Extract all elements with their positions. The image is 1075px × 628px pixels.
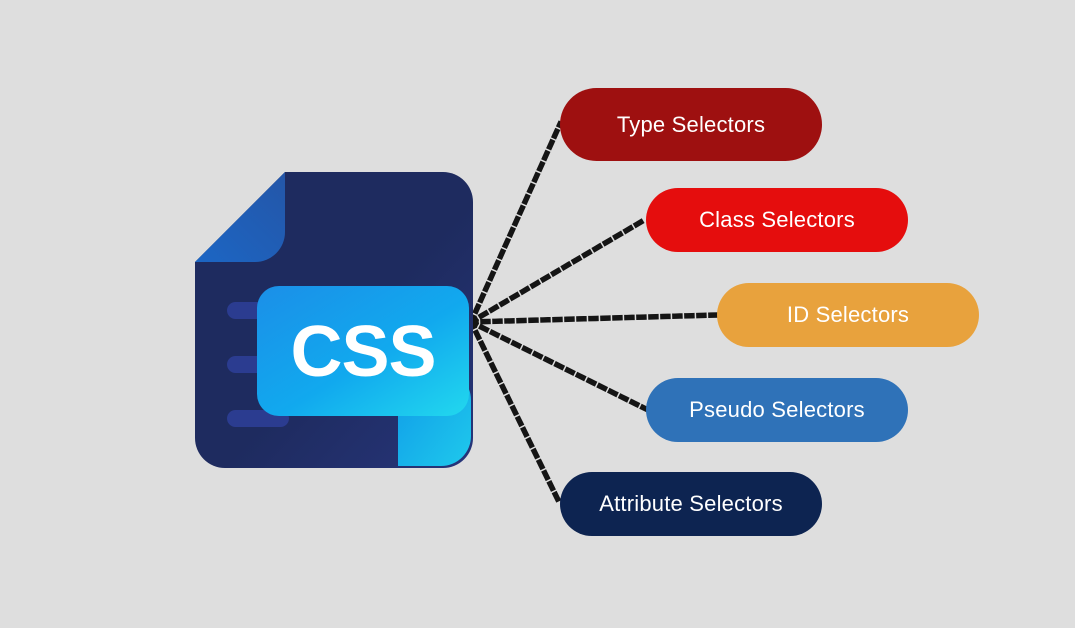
connector-line-pseudo <box>471 322 646 409</box>
connector-line-id <box>471 315 717 322</box>
diagram-canvas: CSS Type Selectors Class Selectors ID Se… <box>0 0 1075 628</box>
doc-fold-corner <box>195 172 285 262</box>
branch-label-type: Type Selectors <box>617 114 765 136</box>
branch-pill-pseudo[interactable]: Pseudo Selectors <box>646 378 908 442</box>
branch-label-class: Class Selectors <box>699 209 855 231</box>
branch-pill-attribute[interactable]: Attribute Selectors <box>560 472 822 536</box>
branch-pill-id[interactable]: ID Selectors <box>717 283 979 347</box>
branch-pill-class[interactable]: Class Selectors <box>646 188 908 252</box>
branch-label-attribute: Attribute Selectors <box>599 493 783 515</box>
connector-line-class <box>471 219 646 322</box>
css-badge-label: CSS <box>290 312 435 392</box>
connector-line-type <box>471 124 560 322</box>
branch-pill-type[interactable]: Type Selectors <box>560 88 822 161</box>
branch-label-pseudo: Pseudo Selectors <box>689 399 865 421</box>
connector-line-attribute <box>471 322 560 504</box>
branch-label-id: ID Selectors <box>787 304 909 326</box>
css-file-icon: CSS <box>193 170 475 470</box>
